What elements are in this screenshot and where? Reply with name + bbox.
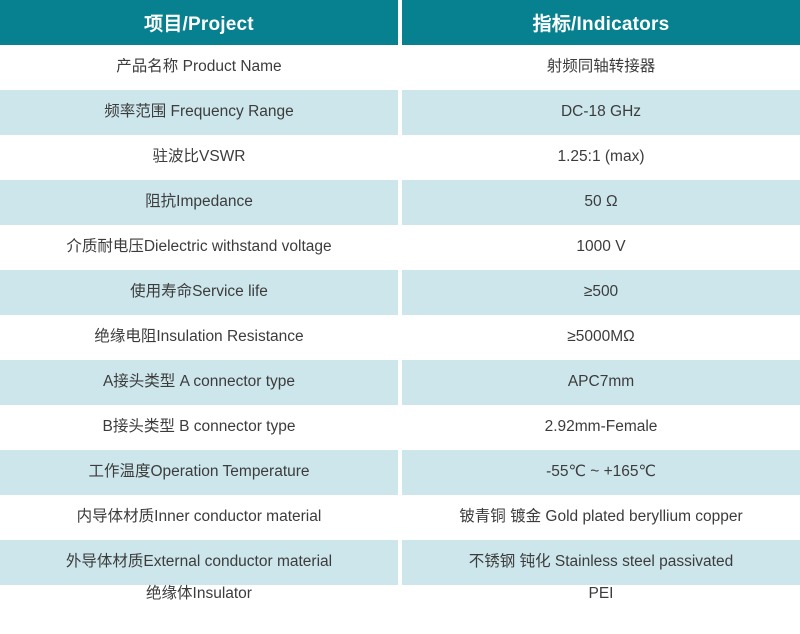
cell-indicator: APC7mm (402, 360, 800, 405)
column-header-indicators: 指标/Indicators (402, 0, 800, 45)
cell-project: 工作温度Operation Temperature (0, 450, 398, 495)
cell-indicator: PEI (402, 585, 800, 604)
cell-indicator: DC-18 GHz (402, 90, 800, 135)
cell-indicator: ≥500 (402, 270, 800, 315)
column-header-project: 项目/Project (0, 0, 398, 45)
cell-project: 绝缘电阻Insulation Resistance (0, 315, 398, 360)
table-row: A接头类型 A connector typeAPC7mm (0, 360, 800, 405)
table-row: 绝缘电阻Insulation Resistance≥5000MΩ (0, 315, 800, 360)
cell-project: 产品名称 Product Name (0, 45, 398, 90)
table-row: 工作温度Operation Temperature-55℃ ~ +165℃ (0, 450, 800, 495)
table-row: 产品名称 Product Name射频同轴转接器 (0, 45, 800, 90)
cell-indicator: 1.25:1 (max) (402, 135, 800, 180)
table-row: 外导体材质External conductor material不锈钢 钝化 S… (0, 540, 800, 585)
cell-indicator: 50 Ω (402, 180, 800, 225)
table-row: 绝缘体InsulatorPEI (0, 585, 800, 604)
table-row: 驻波比VSWR1.25:1 (max) (0, 135, 800, 180)
cell-indicator: 2.92mm-Female (402, 405, 800, 450)
table-row: 使用寿命Service life≥500 (0, 270, 800, 315)
cell-project: 驻波比VSWR (0, 135, 398, 180)
cell-indicator: 射频同轴转接器 (402, 45, 800, 90)
cell-indicator: 1000 V (402, 225, 800, 270)
cell-project: 内导体材质Inner conductor material (0, 495, 398, 540)
cell-indicator: 不锈钢 钝化 Stainless steel passivated (402, 540, 800, 585)
cell-project: 外导体材质External conductor material (0, 540, 398, 585)
cell-project: A接头类型 A connector type (0, 360, 398, 405)
table-row: 频率范围 Frequency RangeDC-18 GHz (0, 90, 800, 135)
specification-table: 项目/Project 指标/Indicators 产品名称 Product Na… (0, 0, 800, 634)
table-row: 内导体材质Inner conductor material铍青铜 镀金 Gold… (0, 495, 800, 540)
cell-indicator: 铍青铜 镀金 Gold plated beryllium copper (402, 495, 800, 540)
table-row: B接头类型 B connector type2.92mm-Female (0, 405, 800, 450)
cell-project: B接头类型 B connector type (0, 405, 398, 450)
cell-indicator: ≥5000MΩ (402, 315, 800, 360)
cell-project: 阻抗Impedance (0, 180, 398, 225)
cell-project: 绝缘体Insulator (0, 585, 398, 604)
cell-indicator: -55℃ ~ +165℃ (402, 450, 800, 495)
cell-project: 频率范围 Frequency Range (0, 90, 398, 135)
cell-project: 介质耐电压Dielectric withstand voltage (0, 225, 398, 270)
cell-project: 使用寿命Service life (0, 270, 398, 315)
table-header-row: 项目/Project 指标/Indicators (0, 0, 800, 45)
table-row: 阻抗Impedance50 Ω (0, 180, 800, 225)
table-row: 介质耐电压Dielectric withstand voltage1000 V (0, 225, 800, 270)
table-body: 产品名称 Product Name射频同轴转接器频率范围 Frequency R… (0, 45, 800, 604)
